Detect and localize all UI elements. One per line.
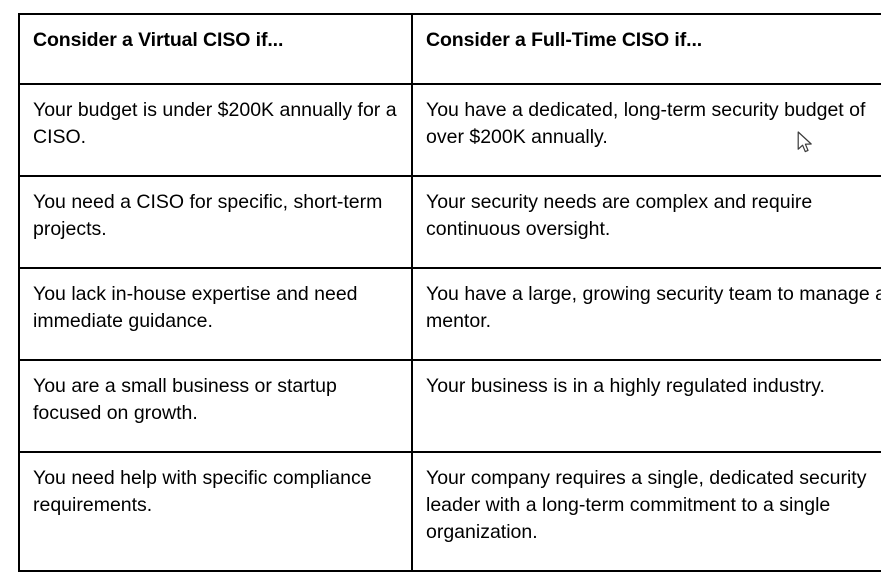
column-header-virtual-ciso: Consider a Virtual CISO if...	[19, 14, 412, 84]
table-cell-text: You have a dedicated, long-term security…	[426, 97, 881, 151]
table-row: You need help with specific compliance r…	[19, 452, 881, 571]
table-cell-virtual-5: You need help with specific compliance r…	[19, 452, 412, 571]
table-header-row: Consider a Virtual CISO if... Consider a…	[19, 14, 881, 84]
table-cell-virtual-4: You are a small business or startup focu…	[19, 360, 412, 452]
table-cell-virtual-1: Your budget is under $200K annually for …	[19, 84, 412, 176]
table-row: Your budget is under $200K annually for …	[19, 84, 881, 176]
table-cell-text: You have a large, growing security team …	[426, 281, 881, 335]
table-cell-fulltime-3: You have a large, growing security team …	[412, 268, 881, 360]
table-header: Consider a Virtual CISO if... Consider a…	[19, 14, 881, 84]
page-canvas: Consider a Virtual CISO if... Consider a…	[0, 0, 881, 583]
table-cell-text: You need a CISO for specific, short-term…	[33, 189, 399, 243]
table-body: Your budget is under $200K annually for …	[19, 84, 881, 571]
table-cell-text: You need help with specific compliance r…	[33, 465, 399, 519]
table-cell-text: Your business is in a highly regulated i…	[426, 373, 881, 400]
table-cell-text: You lack in-house expertise and need imm…	[33, 281, 399, 335]
table-cell-fulltime-2: Your security needs are complex and requ…	[412, 176, 881, 268]
table-cell-text: You are a small business or startup focu…	[33, 373, 399, 427]
table-cell-text: Your security needs are complex and requ…	[426, 189, 881, 243]
table-row: You are a small business or startup focu…	[19, 360, 881, 452]
table-cell-virtual-2: You need a CISO for specific, short-term…	[19, 176, 412, 268]
table-cell-virtual-3: You lack in-house expertise and need imm…	[19, 268, 412, 360]
table-row: You need a CISO for specific, short-term…	[19, 176, 881, 268]
table-cell-text: Your budget is under $200K annually for …	[33, 97, 399, 151]
table-cell-fulltime-1: You have a dedicated, long-term security…	[412, 84, 881, 176]
table-cell-text: Your company requires a single, dedicate…	[426, 465, 881, 546]
column-header-fulltime-ciso-label: Consider a Full-Time CISO if...	[426, 27, 881, 54]
column-header-fulltime-ciso: Consider a Full-Time CISO if...	[412, 14, 881, 84]
ciso-comparison-table: Consider a Virtual CISO if... Consider a…	[18, 13, 881, 572]
column-header-virtual-ciso-label: Consider a Virtual CISO if...	[33, 27, 399, 54]
table-cell-fulltime-4: Your business is in a highly regulated i…	[412, 360, 881, 452]
table-row: You lack in-house expertise and need imm…	[19, 268, 881, 360]
table-cell-fulltime-5: Your company requires a single, dedicate…	[412, 452, 881, 571]
